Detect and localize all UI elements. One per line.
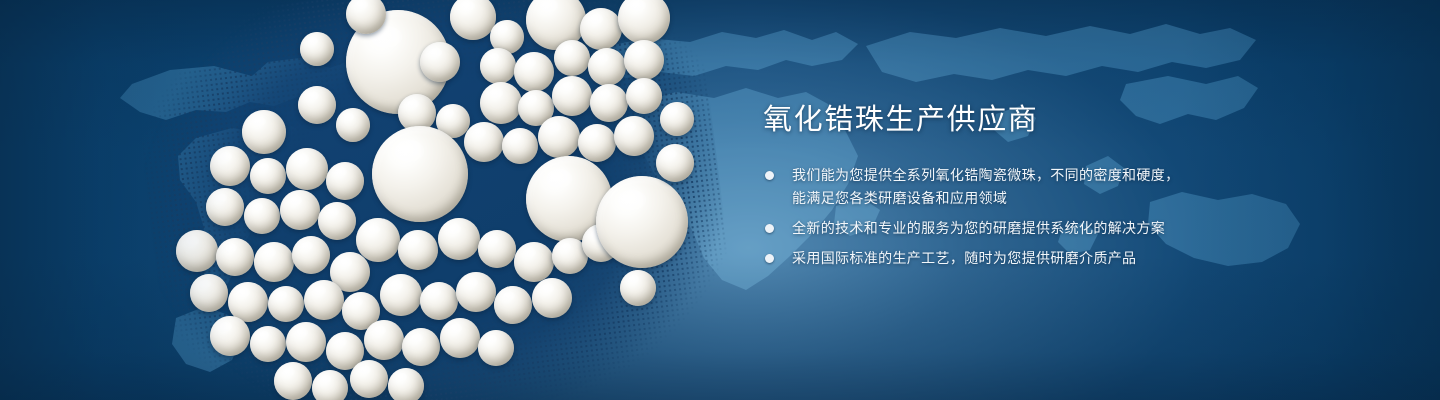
hero-banner: 氧化锆珠生产供应商 我们能为您提供全系列氧化锆陶瓷微珠，不同的密度和硬度， 能满… (0, 0, 1440, 400)
banner-edge-shading (0, 0, 1440, 400)
